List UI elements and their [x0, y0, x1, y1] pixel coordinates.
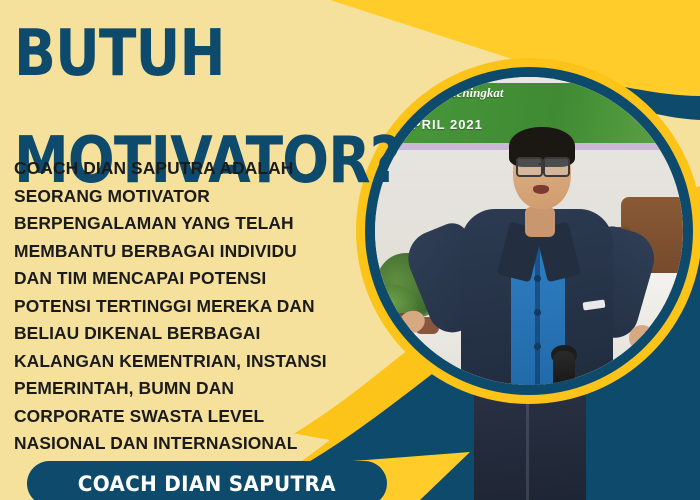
photo-glasses-left-lens [516, 157, 543, 177]
photo-mouth [533, 185, 549, 194]
photo-glasses-bridge [538, 163, 545, 165]
photo-microphone-body [553, 351, 575, 385]
description-paragraph: COACH DIAN SAPUTRA ADALAH SEORANG MOTIVA… [14, 155, 334, 458]
promotional-poster: BUTUH MOTIVATOR? COACH DIAN SAPUTRA ADAL… [0, 0, 700, 500]
photo-neck [525, 207, 555, 237]
photo-banner-title: Meningkat [445, 85, 504, 101]
speaker-photo-medallion: Meningkat 07 APRIL 2021 DIAN SAPUTRA Tra… [356, 58, 700, 404]
photo-speaker-figure [433, 205, 643, 385]
photo-shirt-button [534, 275, 541, 282]
photo-right-hand [629, 325, 655, 351]
photo-banner-logo-subtitle: Trainer, Public Speaker, Motivator [633, 118, 683, 126]
headline-line-1: BUTUH [14, 28, 324, 82]
coach-name-badge[interactable]: COACH DIAN SAPUTRA [27, 461, 387, 500]
photo-shirt-button [534, 309, 541, 316]
photo-banner-logo-graphic [651, 79, 683, 109]
coach-name-label: COACH DIAN SAPUTRA [78, 472, 336, 496]
photo-shirt-button [534, 343, 541, 350]
photo-glasses-right-lens [543, 157, 570, 177]
speaker-photo: Meningkat 07 APRIL 2021 DIAN SAPUTRA Tra… [375, 77, 683, 385]
photo-banner-logo-name: DIAN SAPUTRA [637, 107, 683, 117]
